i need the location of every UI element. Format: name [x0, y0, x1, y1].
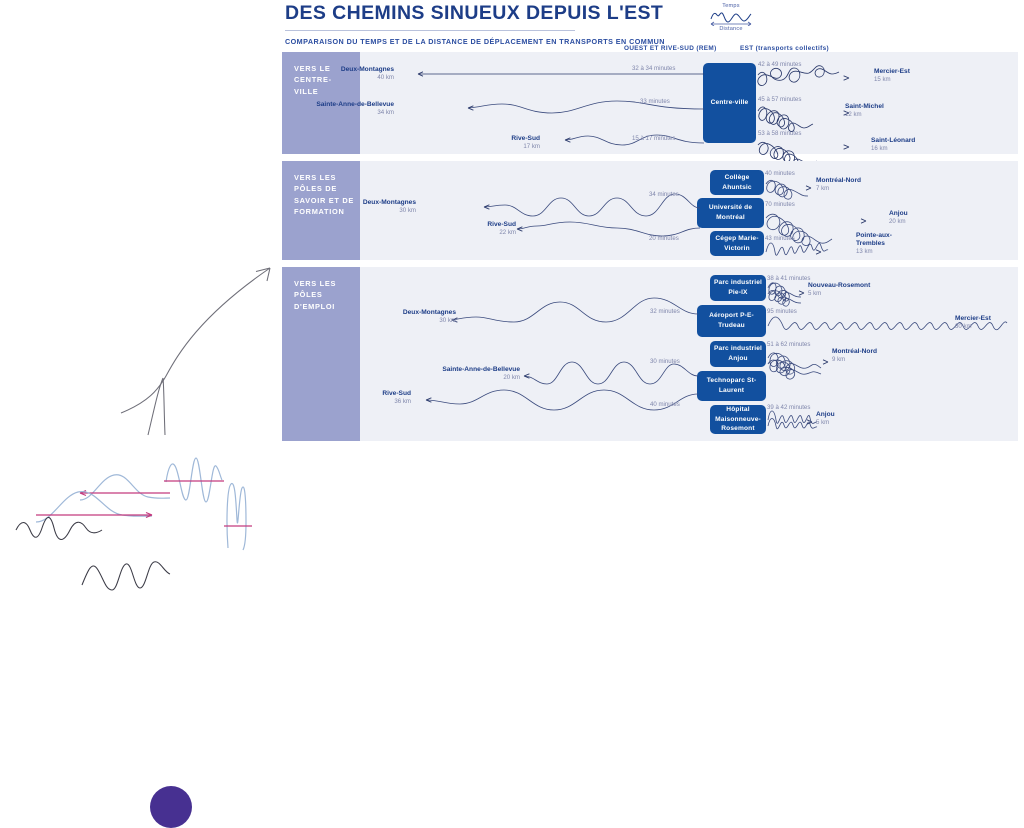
hub-cegep-marie-victorin[interactable]: Cégep Marie-Victorin	[710, 231, 764, 256]
destination-label-2-0: Montréal-Nord 7 km	[816, 177, 861, 193]
hub-aeroport-trudeau[interactable]: Aéroport P-E-Trudeau	[697, 305, 766, 337]
origin-label-3-1: Sainte-Anne-de-Bellevue 20 km	[412, 366, 520, 382]
legend-time-label: Temps	[705, 3, 757, 10]
decorative-circle	[150, 786, 192, 828]
section-band-3: VERS LES PÔLES D'EMPLOI	[282, 267, 360, 441]
time-label-2-east-0: 40 minutes	[765, 170, 795, 177]
time-label-3-0: 32 minutes	[650, 308, 680, 315]
time-label-1-2: 15 à 17 minutes	[632, 135, 675, 142]
hub-technoparc-st-laurent[interactable]: Technoparc St-Laurent	[697, 371, 766, 401]
decorative-sketches	[0, 240, 285, 650]
origin-label-2-0: Deux-Montagnes 30 km	[332, 199, 416, 215]
hub-college-ahuntsic[interactable]: Collège Ahuntsic	[710, 170, 764, 195]
origin-label-3-0: Deux-Montagnes 30 km	[372, 309, 456, 325]
time-label-1-east-0: 42 à 49 minutes	[758, 61, 801, 68]
destination-label-3-0: Nouveau-Rosemont 5 km	[808, 282, 870, 298]
section-band-label-3: VERS LES PÔLES D'EMPLOI	[294, 278, 354, 312]
time-label-3-east-2: 51 à 62 minutes	[767, 341, 810, 348]
sketch-spike-icon	[218, 472, 258, 552]
legend-distance-label: Distance	[705, 26, 757, 33]
destination-label-1-1: Saint-Michel 12 km	[845, 103, 884, 119]
sketch-long-wave-icon	[78, 540, 198, 600]
section-panel-poles-savoir: VERS LES PÔLES DE SAVOIR ET DE FORMATION…	[282, 161, 1018, 260]
page-title: DES CHEMINS SINUEUX DEPUIS L'EST	[285, 2, 885, 24]
legend: Temps Distance	[705, 3, 757, 34]
infographic-canvas: DES CHEMINS SINUEUX DEPUIS L'EST COMPARA…	[0, 0, 1024, 650]
time-label-1-east-1: 45 à 57 minutes	[758, 96, 801, 103]
time-label-1-east-2: 53 à 58 minutes	[758, 130, 801, 137]
origin-label-1-0: Deux-Montagnes 40 km	[312, 66, 394, 82]
time-label-1-1: 33 minutes	[640, 98, 670, 105]
destination-label-2-2: Pointe-aux-Trembles 13 km	[856, 232, 902, 256]
time-label-3-east-0: 38 à 41 minutes	[767, 275, 810, 282]
destination-label-1-0: Mercier-Est 15 km	[874, 68, 910, 84]
column-caption-west: OUEST ET RIVE-SUD (REM)	[624, 45, 717, 52]
column-caption-east: EST (transports collectifs)	[740, 45, 829, 52]
hub-hopital-maisonneuve-rosemont[interactable]: Hôpital Maisonneuve-Rosemont	[710, 405, 766, 434]
time-label-2-east-1: 70 minutes	[765, 201, 795, 208]
destination-label-3-1: Mercier-Est 30 km	[955, 315, 991, 331]
time-label-2-0: 34 minutes	[649, 191, 679, 198]
hub-universite-de-montreal[interactable]: Université de Montréal	[697, 198, 764, 228]
time-label-3-1: 30 minutes	[650, 358, 680, 365]
destination-label-3-2: Montréal-Nord 9 km	[832, 348, 877, 364]
wave-over-ruler-icon	[709, 10, 753, 26]
header: DES CHEMINS SINUEUX DEPUIS L'EST COMPARA…	[285, 2, 885, 46]
destination-label-3-3: Anjou 5 km	[816, 411, 835, 427]
origin-label-1-1: Sainte-Anne-de-Bellevue 34 km	[292, 101, 394, 117]
time-label-2-1: 20 minutes	[649, 235, 679, 242]
destination-label-2-1: Anjou 20 km	[889, 210, 908, 226]
origin-label-2-1: Rive-Sud 22 km	[432, 221, 516, 237]
section-panel-poles-emploi: VERS LES PÔLES D'EMPLOI Parc industriel …	[282, 267, 1018, 441]
hub-parc-industriel-anjou[interactable]: Parc industriel Anjou	[710, 341, 766, 367]
origin-label-3-2: Rive-Sud 36 km	[327, 390, 411, 406]
time-label-3-east-1: 95 minutes	[767, 308, 797, 315]
time-label-2-east-2: 43 minutes	[765, 235, 795, 242]
time-label-3-east-3: 39 à 42 minutes	[767, 404, 810, 411]
title-divider	[285, 30, 575, 31]
time-label-1-0: 32 à 34 minutes	[632, 65, 675, 72]
west-routes-lines-3	[382, 272, 702, 437]
time-label-3-2: 40 minutes	[650, 401, 680, 408]
destination-label-1-2: Saint-Léonard 16 km	[871, 137, 915, 153]
west-routes-lines-2	[422, 166, 702, 258]
east-routes-squiggles-3	[766, 272, 1024, 437]
hub-parc-industriel-pie-ix[interactable]: Parc industriel Pie-IX	[710, 275, 766, 301]
section-panel-centre-ville: VERS LE CENTRE-VILLE Centre-ville Deux-M…	[282, 52, 1018, 154]
origin-label-1-2: Rive-Sud 17 km	[452, 135, 540, 151]
